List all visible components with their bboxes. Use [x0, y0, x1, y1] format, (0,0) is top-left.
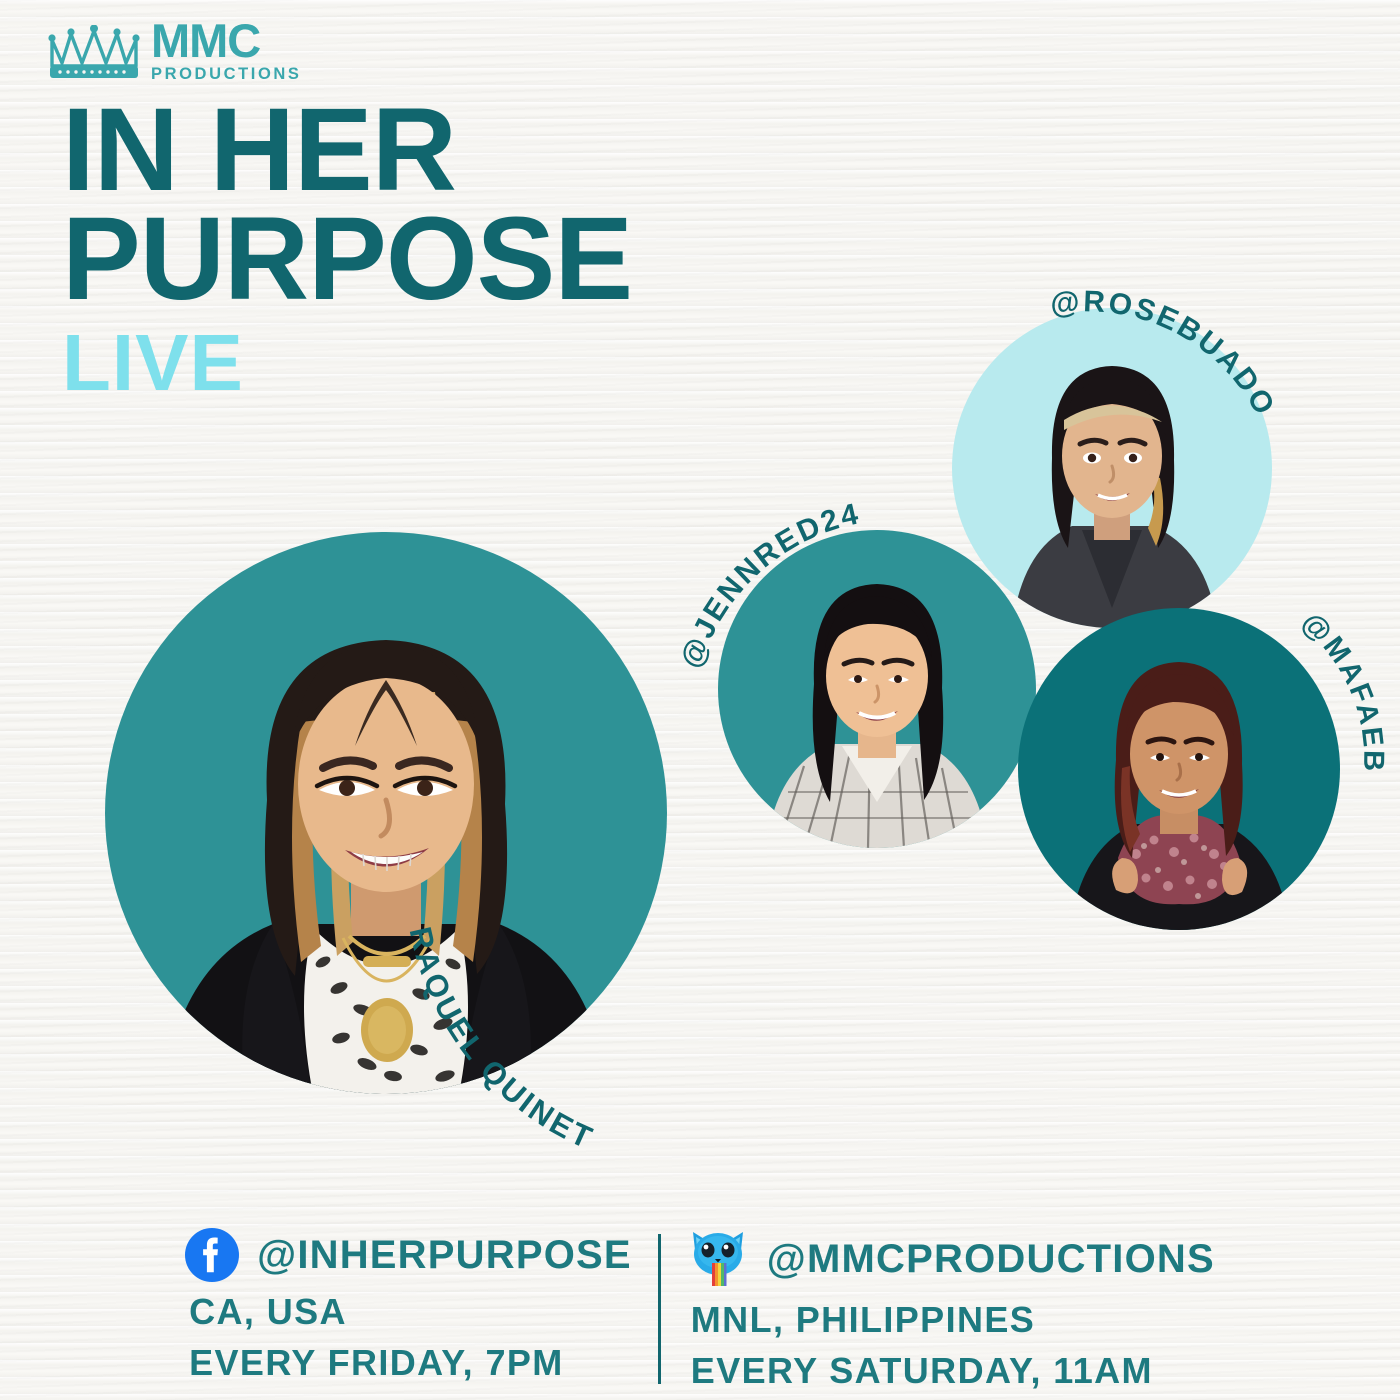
facebook-schedule: EVERY FRIDAY, 7PM: [189, 1342, 564, 1384]
kumu-location: MNL, PHILIPPINES: [691, 1299, 1215, 1341]
brand-subtitle: PRODUCTIONS: [151, 66, 302, 83]
label-mafae-text: @MAFAEB: [1295, 606, 1389, 774]
title-line-1: IN HER: [62, 96, 632, 205]
facebook-handle: @INHERPURPOSE: [257, 1233, 632, 1278]
label-host-text: RAQUEL QUINET: [403, 924, 600, 1157]
live-badge: LIVE: [62, 323, 632, 403]
channel-facebook-header: @INHERPURPOSE: [185, 1228, 632, 1282]
page-title: IN HER PURPOSE LIVE: [62, 96, 632, 403]
label-jenn-text: @JENNRED24: [680, 497, 863, 672]
label-rose-text: @ROSEBUADO: [1049, 285, 1282, 422]
svg-text:@ROSEBUADO: @ROSEBUADO: [1049, 285, 1282, 422]
channel-facebook[interactable]: @INHERPURPOSE CA, USA EVERY FRIDAY, 7PM: [185, 1228, 632, 1384]
title-line-2: PURPOSE: [62, 205, 632, 314]
brand-wordmark: MMC PRODUCTIONS: [151, 17, 302, 83]
footer-divider: [658, 1234, 661, 1384]
kumu-cat-icon[interactable]: [687, 1228, 749, 1290]
label-rosebuado: @ROSEBUADO: [1032, 250, 1352, 450]
brand-logo: MMC PRODUCTIONS: [46, 17, 302, 83]
channel-kumu[interactable]: @MMCPRODUCTIONS MNL, PHILIPPINES EVERY S…: [687, 1228, 1215, 1392]
kumu-schedule: EVERY SATURDAY, 11AM: [691, 1350, 1215, 1392]
footer: @INHERPURPOSE CA, USA EVERY FRIDAY, 7PM: [0, 1228, 1400, 1392]
channel-kumu-header: @MMCPRODUCTIONS: [687, 1228, 1215, 1290]
facebook-location: CA, USA: [189, 1291, 347, 1333]
label-mafaeb: @MAFAEB: [1256, 600, 1400, 860]
label-jennred24: @JENNRED24: [680, 470, 980, 690]
label-raquel-quinet: RAQUEL QUINET: [400, 880, 740, 1180]
svg-text:@JENNRED24: @JENNRED24: [680, 497, 863, 672]
svg-text:RAQUEL QUINET: RAQUEL QUINET: [403, 924, 600, 1157]
kumu-handle: @MMCPRODUCTIONS: [767, 1237, 1215, 1282]
promo-poster: MMC PRODUCTIONS IN HER PURPOSE LIVE: [0, 0, 1400, 1400]
facebook-icon[interactable]: [185, 1228, 239, 1282]
brand-name: MMC: [151, 17, 302, 64]
svg-text:@MAFAEB: @MAFAEB: [1295, 606, 1389, 774]
crown-icon: [46, 25, 142, 83]
